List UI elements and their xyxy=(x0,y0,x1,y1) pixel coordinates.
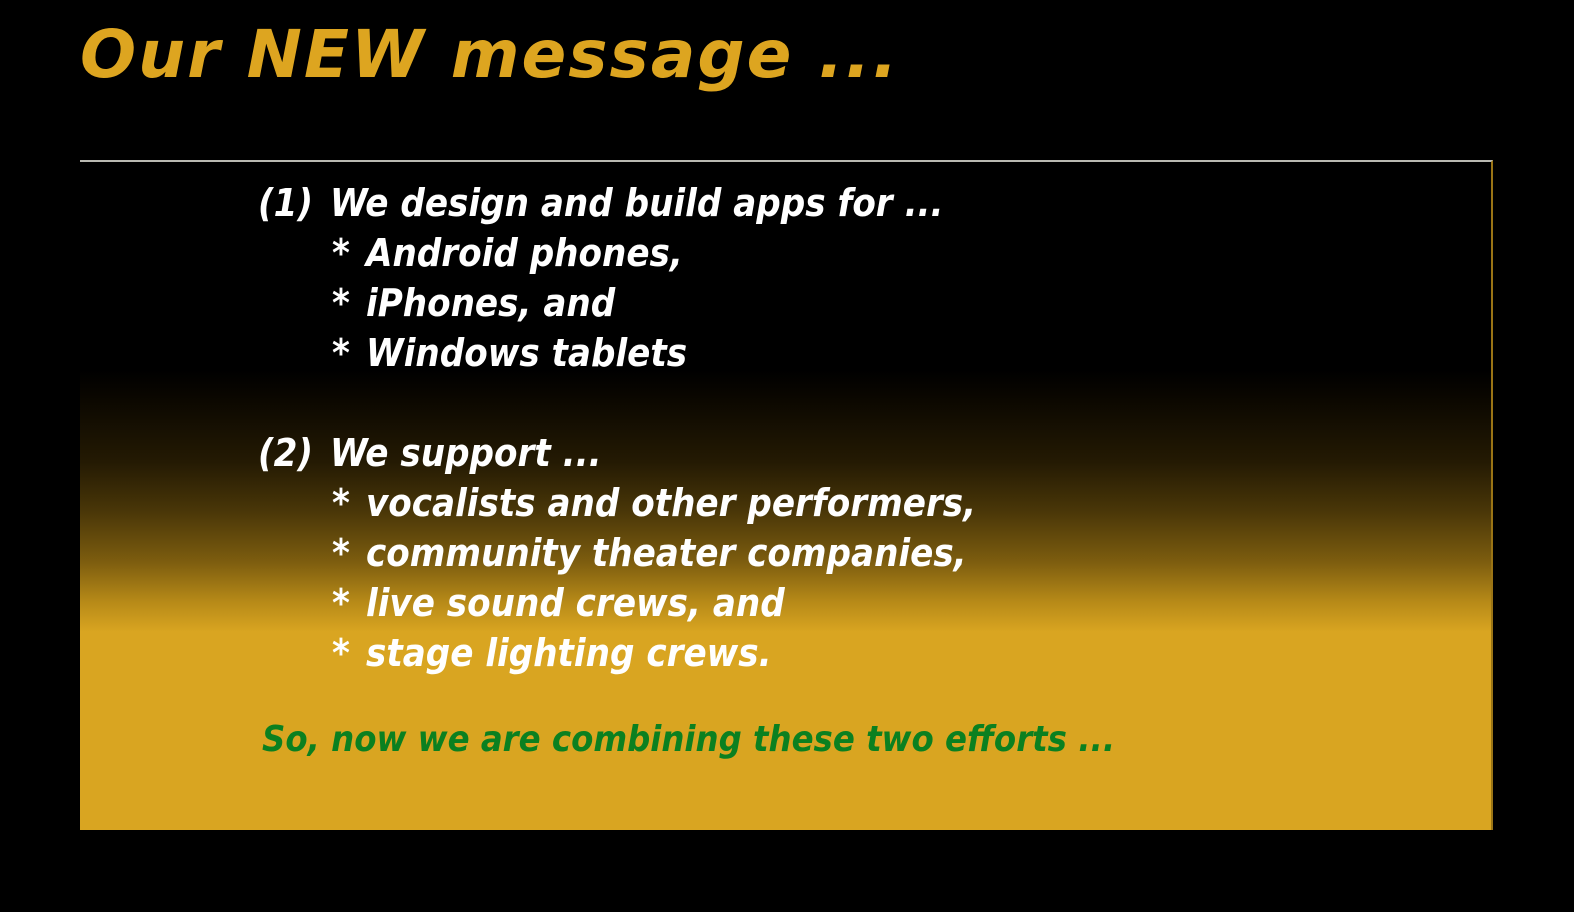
list-item-label: iPhones, and xyxy=(366,284,615,322)
asterisk-bullet-icon: * xyxy=(332,284,366,322)
section-2-heading-text: We support ... xyxy=(330,434,602,472)
list-item-label: community theater companies, xyxy=(366,534,967,572)
asterisk-bullet-icon: * xyxy=(332,634,366,672)
list-item-label: Windows tablets xyxy=(366,334,687,372)
asterisk-bullet-icon: * xyxy=(332,534,366,572)
list-item: * stage lighting crews. xyxy=(80,634,1491,684)
asterisk-bullet-icon: * xyxy=(332,484,366,522)
list-item-label: live sound crews, and xyxy=(366,584,785,622)
list-item-label: vocalists and other performers, xyxy=(366,484,976,522)
closing-statement: So, now we are combining these two effor… xyxy=(80,722,1491,758)
list-item: * Android phones, xyxy=(80,234,1491,284)
list-item-label: stage lighting crews. xyxy=(366,634,772,672)
asterisk-bullet-icon: * xyxy=(332,334,366,372)
asterisk-bullet-icon: * xyxy=(332,584,366,622)
list-item: * live sound crews, and xyxy=(80,584,1491,634)
section-1-heading-text: We design and build apps for ... xyxy=(330,184,944,222)
list-item-label: Android phones, xyxy=(366,234,683,272)
section-2-heading-row: (2) We support ... xyxy=(80,434,1491,484)
section-2: (2) We support ... * vocalists and other… xyxy=(80,434,1491,684)
section-2-number: (2) xyxy=(258,434,330,472)
section-1: (1) We design and build apps for ... * A… xyxy=(80,184,1491,384)
closing-statement-row: So, now we are combining these two effor… xyxy=(80,722,1491,758)
list-item: * vocalists and other performers, xyxy=(80,484,1491,534)
list-item: * Windows tablets xyxy=(80,334,1491,384)
list-item: * community theater companies, xyxy=(80,534,1491,584)
asterisk-bullet-icon: * xyxy=(332,234,366,272)
content-panel: (1) We design and build apps for ... * A… xyxy=(80,160,1493,830)
slide-canvas: Our NEW message ... (1) We design and bu… xyxy=(0,0,1574,912)
section-1-number: (1) xyxy=(258,184,330,222)
page-title: Our NEW message ... xyxy=(80,22,900,88)
list-item: * iPhones, and xyxy=(80,284,1491,334)
section-1-heading-row: (1) We design and build apps for ... xyxy=(80,184,1491,234)
